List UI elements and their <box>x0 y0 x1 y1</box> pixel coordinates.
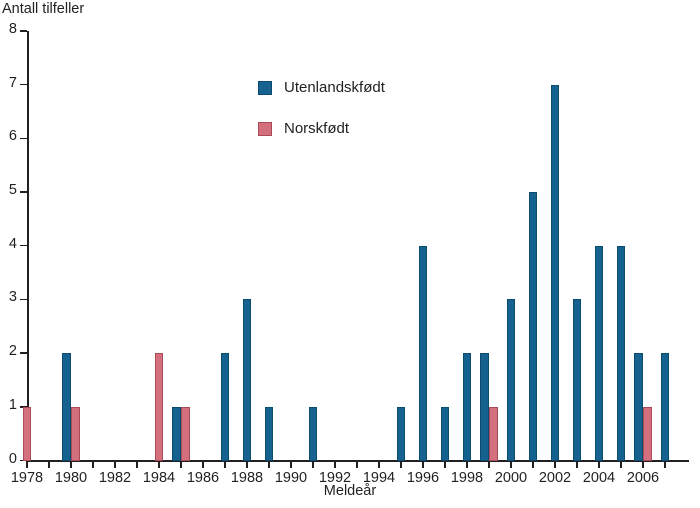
bar-norskfodt-1978 <box>23 407 32 461</box>
x-tick-2001 <box>532 461 533 468</box>
legend-item-norskfodt: Norskfødt <box>258 116 385 141</box>
bar-utenlandskfodt-1985 <box>172 407 181 461</box>
bar-utenlandskfodt-1991 <box>309 407 318 461</box>
bar-utenlandskfodt-1987 <box>221 353 230 460</box>
x-tick-1987 <box>224 461 225 468</box>
y-tick-4 <box>20 245 27 246</box>
bar-utenlandskfodt-2007 <box>661 353 670 460</box>
bar-utenlandskfodt-2000 <box>507 299 516 460</box>
x-axis-line <box>27 460 689 462</box>
x-tick-2007 <box>664 461 665 468</box>
bar-norskfodt-1984 <box>155 353 164 460</box>
x-tick-1982 <box>114 461 115 468</box>
x-tick-1990 <box>290 461 291 468</box>
bar-utenlandskfodt-1995 <box>397 407 406 461</box>
bar-norskfodt-2006 <box>643 407 652 461</box>
bar-utenlandskfodt-1999 <box>480 353 489 460</box>
bar-norskfodt-1999 <box>489 407 498 461</box>
bar-norskfodt-1980 <box>71 407 80 461</box>
x-tick-1986 <box>202 461 203 468</box>
bar-utenlandskfodt-2004 <box>595 246 604 461</box>
y-tick-label-3: 3 <box>0 289 17 305</box>
x-tick-1978 <box>26 461 27 468</box>
y-tick-label-4: 4 <box>0 236 17 252</box>
x-tick-1996 <box>422 461 423 468</box>
y-tick-label-5: 5 <box>0 182 17 198</box>
x-tick-1993 <box>356 461 357 468</box>
bar-utenlandskfodt-2002 <box>551 85 560 461</box>
legend-item-utenlandskfodt: Utenlandskfødt <box>258 75 385 100</box>
x-tick-1999 <box>488 461 489 468</box>
y-tick-5 <box>20 191 27 192</box>
bar-norskfodt-1985 <box>181 407 190 461</box>
x-tick-1981 <box>92 461 93 468</box>
bar-utenlandskfodt-1996 <box>419 246 428 461</box>
bar-utenlandskfodt-2006 <box>634 353 643 460</box>
square-swatch-red-icon <box>258 122 272 136</box>
x-tick-2002 <box>554 461 555 468</box>
y-axis-title: Antall tilfeller <box>2 1 84 18</box>
x-tick-2004 <box>598 461 599 468</box>
y-tick-8 <box>20 30 27 31</box>
y-tick-3 <box>20 299 27 300</box>
y-tick-label-2: 2 <box>0 343 17 359</box>
x-tick-2000 <box>510 461 511 468</box>
bar-utenlandskfodt-2005 <box>617 246 626 461</box>
square-swatch-blue-icon <box>258 81 272 95</box>
x-tick-1980 <box>70 461 71 468</box>
y-tick-2 <box>20 352 27 353</box>
y-tick-label-8: 8 <box>0 21 17 37</box>
x-tick-2005 <box>620 461 621 468</box>
bar-utenlandskfodt-1989 <box>265 407 274 461</box>
x-tick-1994 <box>378 461 379 468</box>
bar-utenlandskfodt-1980 <box>62 353 71 460</box>
x-tick-1985 <box>180 461 181 468</box>
bar-utenlandskfodt-1998 <box>463 353 472 460</box>
x-tick-2003 <box>576 461 577 468</box>
x-tick-1995 <box>400 461 401 468</box>
y-tick-label-6: 6 <box>0 128 17 144</box>
y-tick-label-7: 7 <box>0 75 17 91</box>
x-tick-1979 <box>48 461 49 468</box>
y-tick-6 <box>20 138 27 139</box>
y-tick-label-1: 1 <box>0 397 17 413</box>
bar-utenlandskfodt-2001 <box>529 192 538 460</box>
x-tick-1989 <box>268 461 269 468</box>
x-tick-1998 <box>466 461 467 468</box>
x-tick-1992 <box>334 461 335 468</box>
bar-chart-figure: Antall tilfeller 012345678 1978198019821… <box>0 0 700 508</box>
x-tick-1991 <box>312 461 313 468</box>
bar-utenlandskfodt-1988 <box>243 299 252 460</box>
legend-label-norskfodt: Norskfødt <box>284 120 349 137</box>
bar-utenlandskfodt-1997 <box>441 407 450 461</box>
x-tick-1983 <box>136 461 137 468</box>
x-tick-2006 <box>642 461 643 468</box>
y-axis-line <box>27 31 29 461</box>
x-axis-title: Meldeår <box>0 483 700 499</box>
y-tick-label-0: 0 <box>0 451 17 467</box>
x-tick-1984 <box>158 461 159 468</box>
y-tick-7 <box>20 84 27 85</box>
bar-utenlandskfodt-2003 <box>573 299 582 460</box>
x-tick-1997 <box>444 461 445 468</box>
legend-label-utenlandskfodt: Utenlandskfødt <box>284 79 385 96</box>
x-tick-1988 <box>246 461 247 468</box>
chart-legend: Utenlandskfødt Norskfødt <box>258 75 385 157</box>
